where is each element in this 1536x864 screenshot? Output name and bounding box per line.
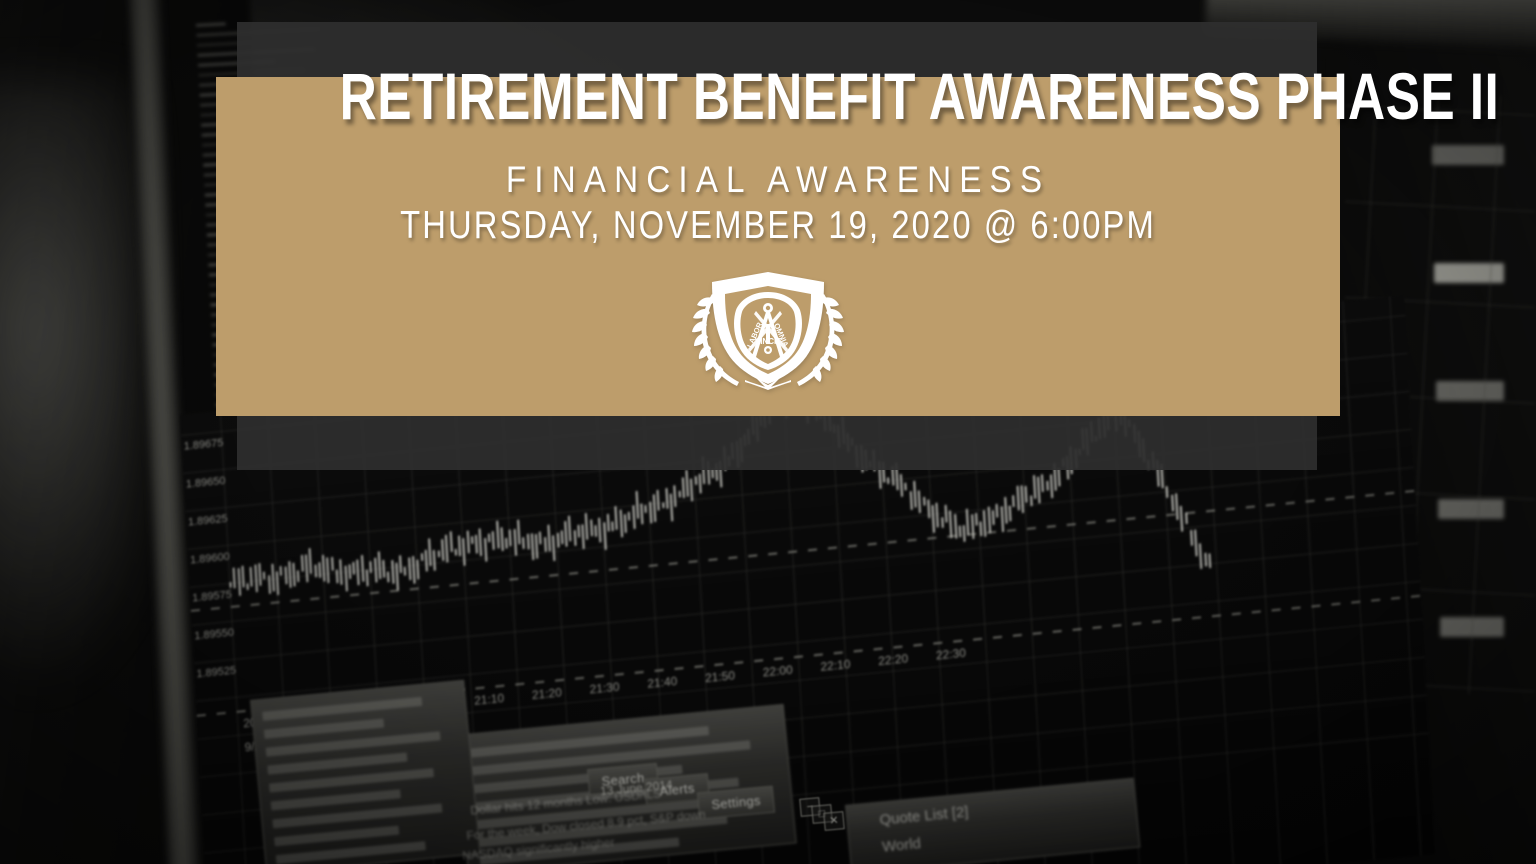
subtitle: FINANCIAL AWARENESS <box>272 158 1284 202</box>
motto-bottom: VINCIT <box>755 337 781 346</box>
page-title: RETIREMENT BENEFIT AWARENESS PHASE II <box>340 59 1217 133</box>
slide-canvas: 1.896751.896501.896251.896001.895751.895… <box>0 0 1536 864</box>
event-datetime: THURSDAY, NOVEMBER 19, 2020 @ 6:00PM <box>306 203 1250 249</box>
organization-emblem: LABOR OMNIA VINCIT <box>678 262 858 392</box>
